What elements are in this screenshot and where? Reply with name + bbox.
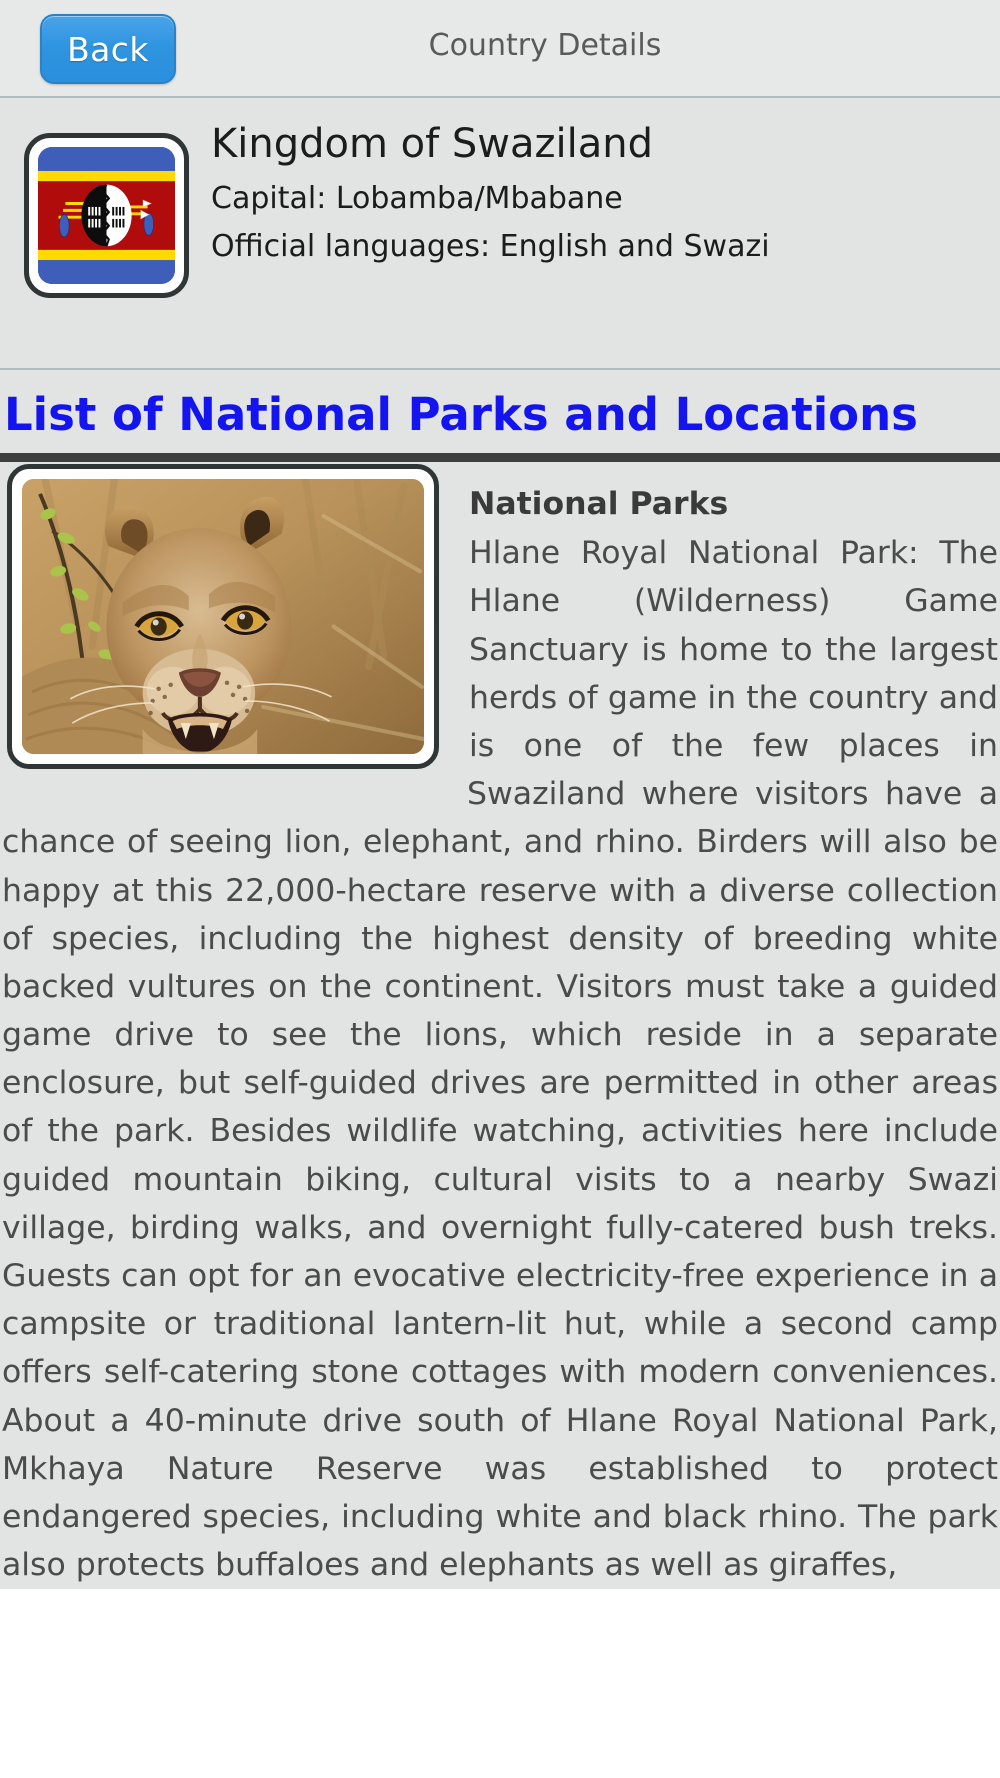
country-name: Kingdom of Swaziland: [211, 118, 1000, 171]
article-content: National Parks Hlane Royal National Park…: [0, 453, 1000, 1589]
country-languages: Official languages: English and Swazi: [211, 227, 1000, 267]
country-capital: Capital: Lobamba/Mbabane: [211, 179, 1000, 219]
section-heading: List of National Parks and Locations: [0, 370, 1000, 453]
swaziland-flag-icon: [38, 147, 175, 284]
lioness-photo-frame: [7, 464, 439, 769]
country-header-panel: Kingdom of Swaziland Capital: Lobamba/Mb…: [0, 98, 1000, 370]
country-flag-frame: [24, 133, 189, 298]
country-info: Kingdom of Swaziland Capital: Lobamba/Mb…: [211, 118, 1000, 276]
lioness-photo: [22, 479, 424, 754]
page-title: Country Details: [0, 28, 1000, 63]
navigation-bar: Back Country Details: [0, 0, 1000, 98]
